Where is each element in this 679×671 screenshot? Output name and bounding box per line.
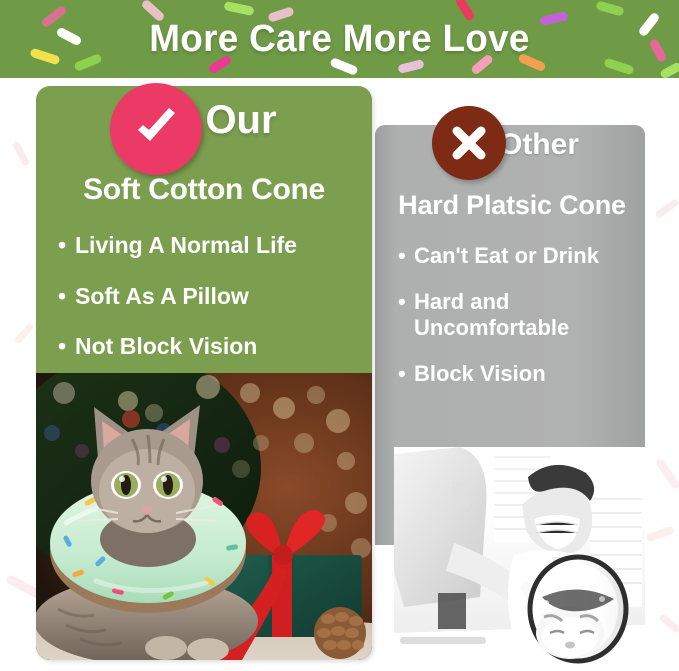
list-item-label: Not Block Vision (75, 333, 257, 359)
list-item: • Not Block Vision (58, 333, 368, 361)
cat-with-hard-cone-image (394, 447, 645, 671)
bullet-icon: • (58, 333, 66, 361)
list-item: • Soft As A Pillow (58, 283, 368, 311)
bullet-icon: • (58, 283, 66, 311)
check-icon (128, 101, 184, 157)
list-item-label: Block Vision (414, 361, 546, 386)
list-item-label: Hard and Uncomfortable (414, 289, 569, 340)
check-badge (110, 83, 202, 175)
list-item: • Living A Normal Life (58, 232, 368, 260)
header-banner: More Care More Love (0, 0, 679, 78)
list-item: • Can't Eat or Drink (398, 243, 648, 269)
other-feature-list: • Can't Eat or Drink • Hard and Uncomfor… (398, 243, 648, 407)
bullet-icon: • (398, 243, 406, 269)
list-item-label: Soft As A Pillow (75, 283, 249, 309)
cat-with-soft-cone-image (36, 373, 372, 660)
bullet-icon: • (58, 232, 66, 260)
page-title: More Care More Love (10, 0, 669, 78)
other-product-photo (394, 447, 645, 671)
our-panel-title: Our (36, 98, 372, 143)
list-item: • Block Vision (398, 361, 648, 387)
our-panel-subtitle: Soft Cotton Cone (36, 173, 372, 207)
our-product-photo (36, 373, 372, 660)
bullet-icon: • (398, 289, 406, 315)
list-item: • Hard and Uncomfortable (398, 289, 648, 341)
cross-badge (432, 106, 506, 180)
list-item-label: Can't Eat or Drink (414, 243, 599, 268)
bullet-icon: • (398, 361, 406, 387)
our-feature-list: • Living A Normal Life • Soft As A Pillo… (58, 232, 368, 384)
other-panel-title: Other (375, 128, 645, 162)
list-item-label: Living A Normal Life (75, 232, 297, 258)
product-comparison-infographic: More Care More Love Other Hard Platsic C… (0, 0, 679, 671)
other-panel-subtitle: Hard Platsic Cone (375, 190, 649, 221)
cross-icon (447, 121, 491, 165)
